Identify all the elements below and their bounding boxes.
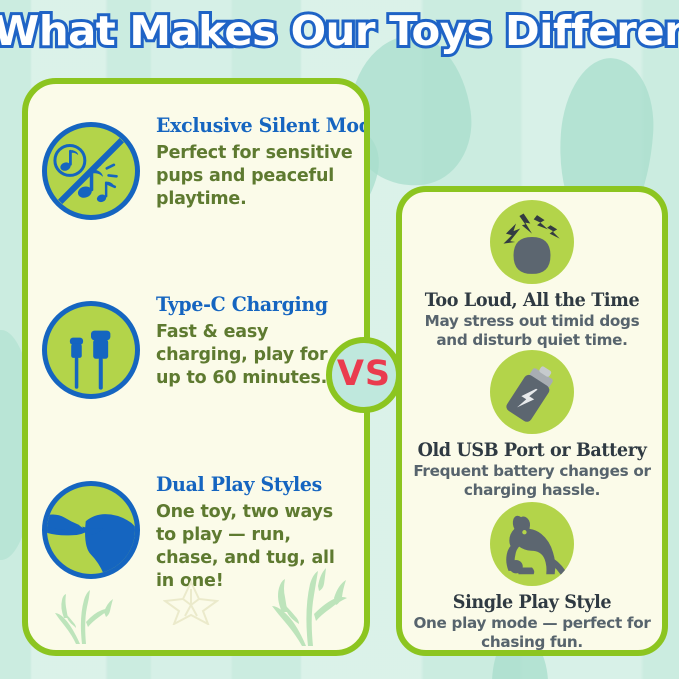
battery-icon <box>490 350 574 434</box>
infographic-canvas: What Makes Our Toys Different <box>0 0 679 679</box>
cons-item-too-loud: Too Loud, All the Time May stress out ti… <box>408 200 656 351</box>
loud-noise-glyph <box>490 200 574 284</box>
pros-item-silent-mode: Exclusive Silent Mode Perfect for sensit… <box>42 110 360 220</box>
loud-noise-icon <box>490 200 574 284</box>
cons-panel: Too Loud, All the Time May stress out ti… <box>396 186 668 656</box>
usb-c-cable-icon <box>42 301 140 399</box>
pros-item-title: Type-C Charging <box>156 293 350 316</box>
pros-item-title: Dual Play Styles <box>156 473 350 496</box>
pros-panel: Exclusive Silent Mode Perfect for sensit… <box>22 78 370 656</box>
cons-item-single-play-style: Single Play Style One play mode — perfec… <box>408 502 656 653</box>
silent-mode-icon <box>42 122 140 220</box>
vs-badge-label: VS <box>337 357 391 392</box>
page-title: What Makes Our Toys Different <box>0 9 679 54</box>
cons-item-body: Frequent battery changes or charging has… <box>408 462 656 501</box>
silent-mode-glyph <box>47 127 135 215</box>
cons-item-title: Single Play Style <box>414 592 650 613</box>
two-dogs-tug-glyph <box>47 486 135 574</box>
pros-item-title: Exclusive Silent Mode <box>156 114 370 137</box>
sitting-dog-with-ball-icon <box>490 502 574 586</box>
seaweed-right-icon <box>262 550 350 646</box>
seaweed-left-icon <box>50 562 120 644</box>
vs-badge: VS <box>326 337 402 413</box>
cons-item-old-usb-battery: Old USB Port or Battery Frequent battery… <box>408 350 656 501</box>
pros-item-body: Perfect for sensitive pups and peaceful … <box>156 142 356 211</box>
usb-c-cable-glyph <box>47 306 135 394</box>
cons-item-body: May stress out timid dogs and disturb qu… <box>408 312 656 351</box>
battery-glyph <box>490 350 574 434</box>
cons-item-title: Too Loud, All the Time <box>414 290 650 311</box>
sitting-dog-glyph <box>490 502 574 586</box>
cons-item-body: One play mode — perfect for chasing fun. <box>408 614 656 653</box>
pros-item-type-c-charging: Type-C Charging Fast & easy charging, pl… <box>42 289 360 399</box>
pros-item-text: Exclusive Silent Mode Perfect for sensit… <box>156 110 370 211</box>
cons-item-title: Old USB Port or Battery <box>414 440 650 461</box>
starfish-icon <box>163 579 219 625</box>
